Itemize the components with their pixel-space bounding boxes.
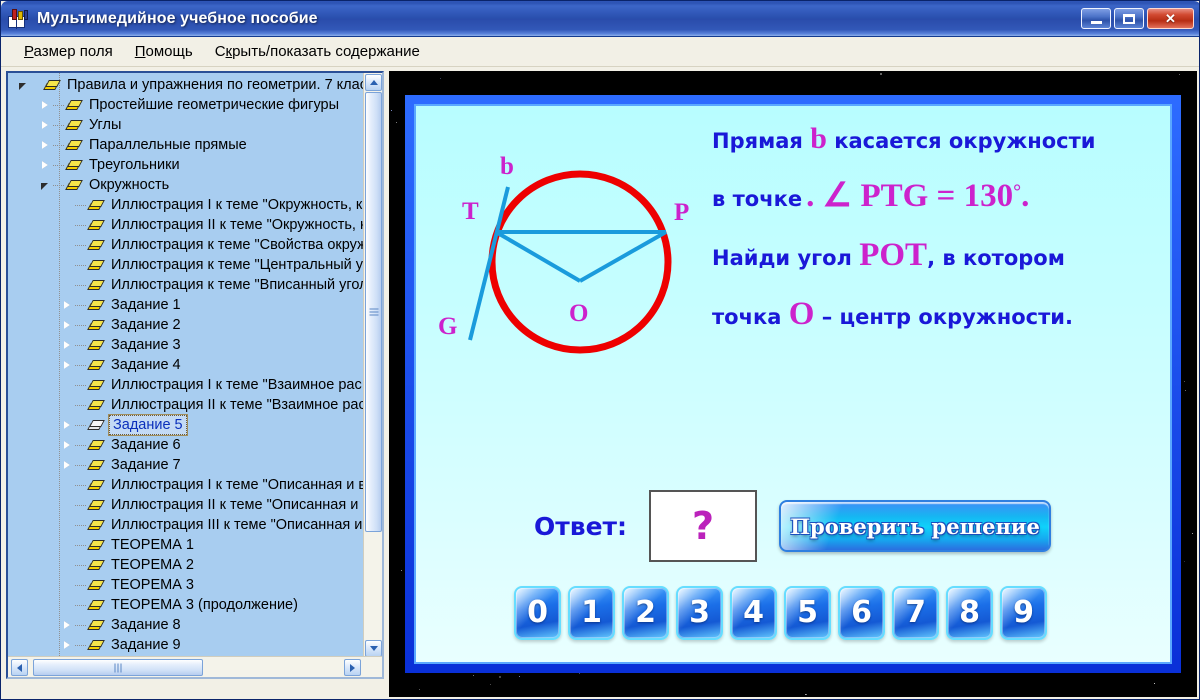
problem-line-4: точка O – центр окружности.: [712, 298, 1180, 331]
book-icon: [66, 159, 82, 172]
close-button[interactable]: ✕: [1147, 8, 1194, 29]
tree-connector: [53, 160, 66, 171]
expand-toggle-icon[interactable]: [40, 120, 51, 131]
star: [1184, 561, 1185, 562]
tree-item-0[interactable]: Правила и упражнения по геометрии. 7 кла…: [8, 75, 363, 95]
keypad-key-2[interactable]: 2: [622, 586, 669, 640]
tree-connector: [53, 120, 66, 131]
book-icon: [88, 579, 104, 592]
tree-connector: [75, 600, 88, 611]
expand-toggle-icon[interactable]: [40, 100, 51, 111]
geometry-svg: b T P G O: [438, 144, 718, 374]
check-solution-label: Проверить решение: [790, 514, 1040, 539]
tree-item-label: ТЕОРЕМА 2: [109, 556, 196, 574]
book-icon: [66, 99, 82, 112]
keypad-key-4[interactable]: 4: [730, 586, 777, 640]
star: [880, 73, 882, 75]
tree-item-14[interactable]: Задание 4: [8, 355, 363, 375]
book-icon: [88, 639, 104, 652]
keypad-key-label: 3: [689, 598, 710, 628]
expand-toggle-icon[interactable]: [62, 340, 73, 351]
keypad-key-5[interactable]: 5: [784, 586, 831, 640]
star: [490, 684, 491, 685]
segment-po: [580, 232, 666, 281]
tree-item-26[interactable]: ТЕОРЕМА 3 (продолжение): [8, 595, 363, 615]
book-icon: [88, 399, 104, 412]
expand-toggle-icon[interactable]: [62, 360, 73, 371]
book-icon: [88, 279, 104, 292]
book-icon: [88, 199, 104, 212]
star: [805, 694, 806, 695]
tree-item-17[interactable]: Задание 5: [8, 415, 363, 435]
book-icon: [88, 319, 104, 332]
tree-item-5[interactable]: Окружность: [8, 175, 363, 195]
tree-connector: [75, 360, 88, 371]
tree-item-10[interactable]: Иллюстрация к теме "Вписанный угол: [8, 275, 363, 295]
tree-item-12[interactable]: Задание 2: [8, 315, 363, 335]
tree-connector: [53, 180, 66, 191]
maximize-icon: [1123, 14, 1135, 24]
number-keypad: 0123456789: [514, 586, 1047, 640]
expand-toggle-icon[interactable]: [62, 620, 73, 631]
problem-statement: Прямая b касается окружности в точке . ∠…: [712, 124, 1180, 357]
horizontal-scroll-thumb[interactable]: [33, 659, 203, 676]
tree-item-11[interactable]: Задание 1: [8, 295, 363, 315]
star: [396, 122, 397, 123]
tree-connector: [75, 420, 88, 431]
label-g: G: [438, 313, 457, 340]
tree-connector: [75, 220, 88, 231]
tree-item-25[interactable]: ТЕОРЕМА 3: [8, 575, 363, 595]
star: [519, 676, 520, 677]
scroll-left-button[interactable]: [11, 659, 28, 676]
contents-tree-pane: Правила и упражнения по геометрии. 7 кла…: [6, 71, 384, 679]
keypad-key-9[interactable]: 9: [1000, 586, 1047, 640]
expand-toggle-icon[interactable]: [62, 440, 73, 451]
star: [1185, 390, 1186, 391]
book-icon: [88, 219, 104, 232]
open-book-icon: [88, 419, 104, 432]
chevron-left-icon: [17, 664, 22, 672]
collapse-toggle-icon[interactable]: [40, 180, 51, 191]
slide-content: b T P G O Прямая b касается окружности в…: [414, 104, 1172, 664]
problem-line-2-part-a: в точке: [712, 187, 809, 211]
tree-item-28[interactable]: Задание 9: [8, 635, 363, 655]
tree-connector: [75, 400, 88, 411]
tree-item-label: Задание 5: [109, 415, 187, 435]
tree-connector: [75, 560, 88, 571]
tree-connector: [53, 100, 66, 111]
minimize-icon: [1091, 21, 1102, 24]
slide-stage: b T P G O Прямая b касается окружности в…: [389, 71, 1197, 697]
check-solution-button[interactable]: Проверить решение: [779, 500, 1051, 552]
problem-line-1: Прямая b касается окружности: [712, 124, 1180, 154]
tree-connector: [75, 460, 88, 471]
problem-line-3: Найди угол POT, в котором: [712, 239, 1180, 272]
answer-input-box[interactable]: ?: [649, 490, 757, 562]
problem-line-2-degree: °: [1013, 181, 1021, 203]
tree-item-22[interactable]: Иллюстрация III к теме "Описанная и: [8, 515, 363, 535]
tree-item-label: Иллюстрация к теме "Центральный у: [109, 256, 363, 274]
star: [1184, 381, 1185, 382]
maximize-button[interactable]: [1114, 8, 1144, 29]
tree-item-label: Иллюстрация I к теме "Окружность, к: [109, 196, 363, 214]
keypad-key-3[interactable]: 3: [676, 586, 723, 640]
title-bar: Мультимедийное учебное пособие ✕: [1, 1, 1200, 37]
expand-toggle-icon[interactable]: [62, 640, 73, 651]
book-icon: [88, 379, 104, 392]
tree-item-label: Параллельные прямые: [87, 136, 249, 154]
book-icon: [88, 439, 104, 452]
book-icon: [44, 79, 60, 92]
problem-line-3-part-a: Найди угол: [712, 246, 859, 270]
label-p: P: [674, 199, 689, 226]
tree-item-label: Иллюстрация II к теме "Окружность, н: [109, 216, 363, 234]
keypad-key-6[interactable]: 6: [838, 586, 885, 640]
chevron-right-icon: [350, 664, 355, 672]
problem-line-4-center: O: [789, 296, 815, 332]
segment-to: [496, 232, 580, 281]
tree-item-label: ТЕОРЕМА 3 (продолжение): [109, 596, 300, 614]
tree-item-label: Задание 7: [109, 456, 183, 474]
window-title: Мультимедийное учебное пособие: [37, 10, 318, 28]
window-controls: ✕: [1081, 8, 1200, 29]
tree-item-label: Иллюстрация I к теме "Описанная и в: [109, 476, 363, 494]
tree-item-9[interactable]: Иллюстрация к теме "Центральный у: [8, 255, 363, 275]
tree-connector: [53, 140, 66, 151]
tree-item-24[interactable]: ТЕОРЕМА 2: [8, 555, 363, 575]
tree-connector: [75, 320, 88, 331]
book-icon: [88, 619, 104, 632]
star: [1179, 74, 1180, 75]
tree-item-label: Иллюстрация III к теме "Описанная и: [109, 516, 363, 534]
chevron-down-icon: [370, 646, 378, 651]
tree-item-label: Правила и упражнения по геометрии. 7 кла…: [65, 76, 363, 94]
tree-item-label: Задание 8: [109, 616, 183, 634]
tree-item-label: Задание 2: [109, 316, 183, 334]
star: [473, 675, 474, 676]
chevron-up-icon: [370, 80, 378, 85]
book-icon: [88, 259, 104, 272]
menu-bar: Размер поля Помощь Скрыть/показать содер…: [1, 37, 1200, 67]
book-icon: [88, 599, 104, 612]
keypad-key-label: 4: [743, 598, 764, 628]
vertical-scroll-thumb[interactable]: [365, 92, 382, 532]
tree-item-label: Окружность: [87, 176, 171, 194]
tree-item-label: Треугольники: [87, 156, 182, 174]
keypad-key-1[interactable]: 1: [568, 586, 615, 640]
expand-toggle-icon[interactable]: [40, 140, 51, 151]
slide-frame: b T P G O Прямая b касается окружности в…: [405, 95, 1181, 673]
tree-item-label: ТЕОРЕМА 3: [109, 576, 196, 594]
book-icon: [66, 119, 82, 132]
keypad-key-label: 1: [581, 598, 602, 628]
keypad-key-label: 8: [959, 598, 980, 628]
book-icon: [88, 499, 104, 512]
book-icon: [88, 339, 104, 352]
expand-toggle-icon[interactable]: [62, 300, 73, 311]
expand-toggle-icon[interactable]: [40, 160, 51, 171]
problem-line-4-part-c: – центр окружности.: [814, 305, 1073, 329]
tree-item-label: Углы: [87, 116, 123, 134]
collapse-toggle-icon[interactable]: [18, 80, 29, 91]
tree-item-21[interactable]: Иллюстрация II к теме "Описанная и в: [8, 495, 363, 515]
tree-list: Правила и упражнения по геометрии. 7 кла…: [8, 75, 363, 655]
tree-item-label: Задание 4: [109, 356, 183, 374]
expand-toggle-icon[interactable]: [62, 420, 73, 431]
tree-connector: [75, 240, 88, 251]
keypad-key-7[interactable]: 7: [892, 586, 939, 640]
star: [391, 110, 392, 111]
tree-item-15[interactable]: Иллюстрация I к теме "Взаимное рас: [8, 375, 363, 395]
menu-item-help[interactable]: Помощь: [124, 40, 204, 63]
tree-scroll-area[interactable]: Правила и упражнения по геометрии. 7 кла…: [8, 73, 363, 658]
close-icon: ✕: [1165, 12, 1176, 25]
tree-connector: [75, 480, 88, 491]
book-icon: [88, 539, 104, 552]
star: [440, 78, 441, 79]
tree-connector: [75, 340, 88, 351]
label-o: O: [569, 300, 588, 327]
star: [1154, 683, 1155, 684]
grip-icon: [369, 309, 378, 316]
tree-connector: [75, 500, 88, 511]
tree-item-13[interactable]: Задание 3: [8, 335, 363, 355]
tree-connector: [75, 300, 88, 311]
tree-connector: [75, 280, 88, 291]
keypad-key-0[interactable]: 0: [514, 586, 561, 640]
tree-item-label: Иллюстрация к теме "Вписанный угол: [109, 276, 363, 294]
book-icon: [66, 139, 82, 152]
tree-item-label: Задание 3: [109, 336, 183, 354]
problem-line-2-period: .: [1021, 178, 1029, 214]
tree-connector: [75, 440, 88, 451]
keypad-key-label: 9: [1013, 598, 1034, 628]
problem-line-1-part-c: касается окружности: [827, 129, 1096, 153]
book-icon: [88, 239, 104, 252]
tree-connector: [75, 260, 88, 271]
menu-item-toggle-contents[interactable]: Скрыть/показать содержание: [204, 40, 431, 63]
keypad-key-label: 5: [797, 598, 818, 628]
tree-item-label: ТЕОРЕМА 1: [109, 536, 196, 554]
expand-toggle-icon[interactable]: [62, 460, 73, 471]
answer-value: ?: [692, 507, 714, 545]
tree-connector: [75, 200, 88, 211]
star: [419, 689, 420, 690]
tree-item-4[interactable]: Треугольники: [8, 155, 363, 175]
book-icon: [88, 359, 104, 372]
book-icon: [88, 519, 104, 532]
label-t: T: [462, 198, 479, 225]
tree-item-3[interactable]: Параллельные прямые: [8, 135, 363, 155]
book-icon: [88, 479, 104, 492]
menu-item-field-size[interactable]: Размер поля: [13, 40, 124, 63]
tree-horizontal-scrollbar[interactable]: [8, 656, 382, 677]
star: [401, 570, 402, 571]
book-app-icon: [8, 9, 30, 29]
minimize-button[interactable]: [1081, 8, 1111, 29]
tree-connector: [75, 380, 88, 391]
expand-toggle-icon[interactable]: [62, 320, 73, 331]
tree-item-1[interactable]: Простейшие геометрические фигуры: [8, 95, 363, 115]
star: [579, 673, 580, 674]
tree-item-label: Иллюстрация к теме "Свойства окруж: [109, 236, 363, 254]
tree-item-6[interactable]: Иллюстрация I к теме "Окружность, к: [8, 195, 363, 215]
tree-connector: [75, 540, 88, 551]
tree-item-label: Простейшие геометрические фигуры: [87, 96, 341, 114]
scroll-right-button[interactable]: [344, 659, 361, 676]
book-icon: [88, 459, 104, 472]
book-icon: [88, 559, 104, 572]
keypad-key-label: 2: [635, 598, 656, 628]
tree-item-27[interactable]: Задание 8: [8, 615, 363, 635]
tree-vertical-scrollbar[interactable]: [363, 73, 382, 658]
scroll-up-button[interactable]: [365, 74, 382, 91]
answer-label: Ответ:: [534, 512, 627, 541]
problem-line-1-tangent: b: [810, 122, 827, 155]
tree-item-2[interactable]: Углы: [8, 115, 363, 135]
answer-row: Ответ: ? Проверить решение: [534, 490, 1051, 562]
tree-item-20[interactable]: Иллюстрация I к теме "Описанная и в: [8, 475, 363, 495]
tree-item-label: Задание 6: [109, 436, 183, 454]
star: [1192, 533, 1193, 534]
tree-item-label: Иллюстрация I к теме "Взаимное рас: [109, 376, 363, 394]
book-icon: [66, 179, 82, 192]
keypad-key-label: 7: [905, 598, 926, 628]
tree-item-label: Задание 1: [109, 296, 183, 314]
star: [499, 676, 501, 678]
tree-item-7[interactable]: Иллюстрация II к теме "Окружность, н: [8, 215, 363, 235]
problem-line-1-part-a: Прямая: [712, 129, 810, 153]
tree-connector: [75, 580, 88, 591]
book-icon: [88, 299, 104, 312]
star: [806, 694, 807, 695]
scroll-down-button[interactable]: [365, 640, 382, 657]
application-window: Мультимедийное учебное пособие ✕ Размер …: [0, 0, 1200, 700]
label-b: b: [500, 153, 514, 180]
tree-item-18[interactable]: Задание 6: [8, 435, 363, 455]
keypad-key-label: 6: [851, 598, 872, 628]
problem-line-2-angle: . ∠ PTG = 130: [806, 178, 1013, 214]
tree-item-23[interactable]: ТЕОРЕМА 1: [8, 535, 363, 555]
keypad-key-label: 0: [527, 598, 548, 628]
tree-item-19[interactable]: Задание 7: [8, 455, 363, 475]
problem-line-4-part-a: точка: [712, 305, 789, 329]
geometry-figure: b T P G O: [438, 144, 718, 374]
tree-connector: [75, 640, 88, 651]
tree-connector: [75, 620, 88, 631]
keypad-key-8[interactable]: 8: [946, 586, 993, 640]
tree-item-label: Иллюстрация II к теме "Взаимное рас: [109, 396, 363, 414]
problem-line-3-part-c: , в котором: [927, 246, 1065, 270]
grip-icon: [115, 663, 122, 672]
tree-item-label: Иллюстрация II к теме "Описанная и в: [109, 496, 363, 514]
tree-item-16[interactable]: Иллюстрация II к теме "Взаимное рас: [8, 395, 363, 415]
problem-line-2: в точке . ∠ PTG = 130°.: [712, 180, 1180, 213]
tree-item-8[interactable]: Иллюстрация к теме "Свойства окруж: [8, 235, 363, 255]
problem-line-3-angle-name: POT: [859, 237, 927, 273]
tree-item-label: Задание 9: [109, 636, 183, 654]
tree-connector: [75, 520, 88, 531]
